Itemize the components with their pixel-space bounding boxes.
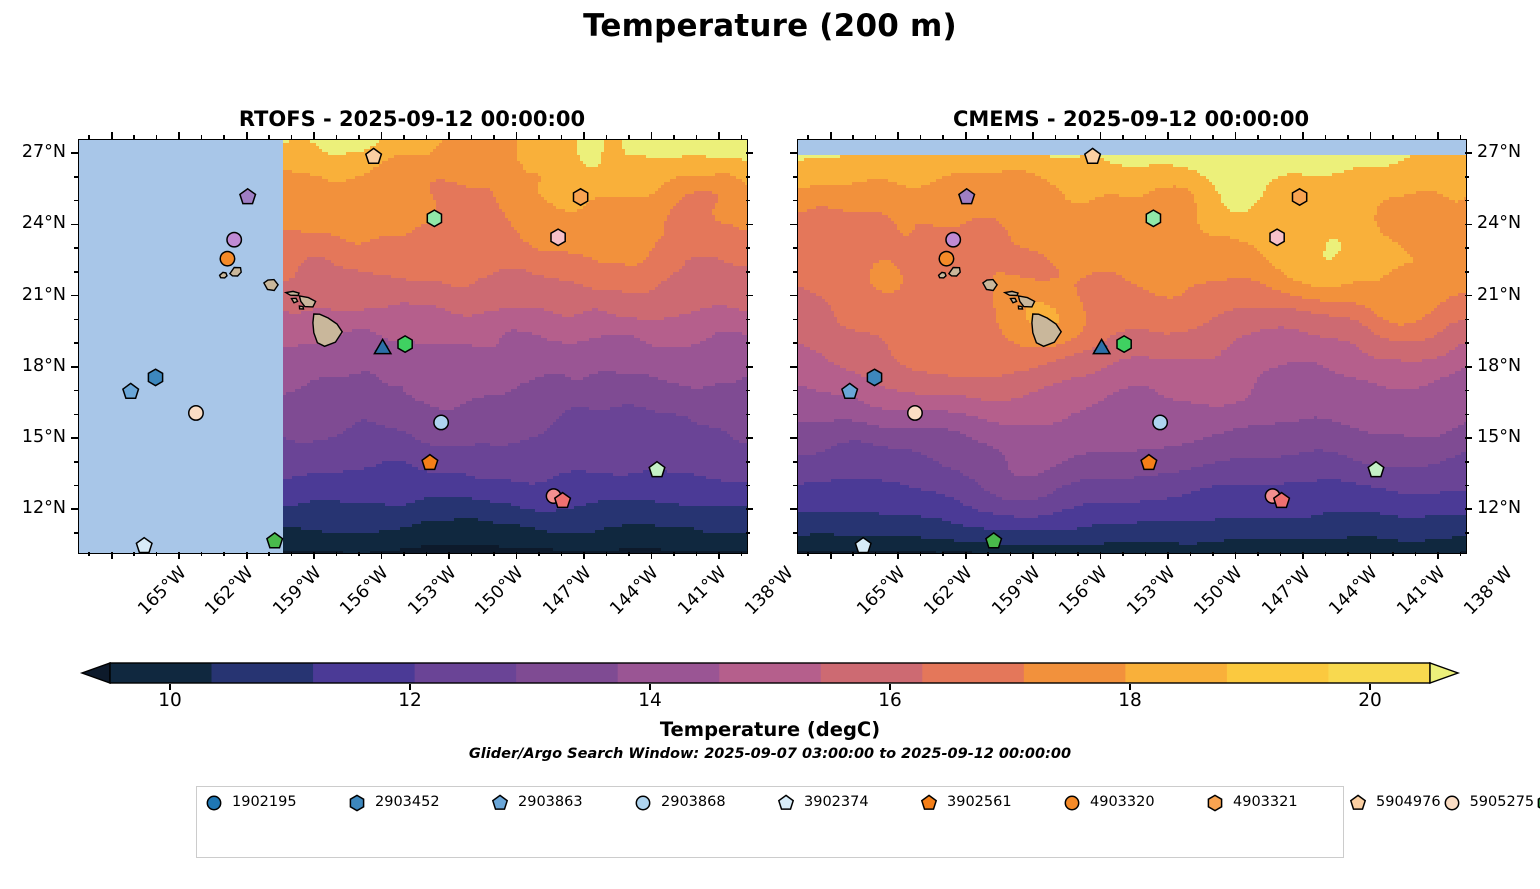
xtick-minor — [1055, 552, 1057, 556]
map-marker-2903868[interactable] — [434, 415, 448, 429]
marker-legend: 1902195290345229038632903868390237439025… — [196, 786, 1344, 858]
xtick-major — [1437, 552, 1439, 559]
ytick-minor — [74, 461, 78, 463]
xtick-minor — [223, 552, 225, 556]
ytick-major — [746, 295, 753, 297]
map-axes-rtofs[interactable] — [78, 139, 748, 554]
xtick-major — [1370, 132, 1372, 139]
xtick-minor — [426, 552, 428, 556]
ytick-minor — [746, 247, 750, 249]
ytick-minor — [793, 319, 797, 321]
xtick-major — [651, 132, 653, 139]
xtick-minor — [133, 135, 135, 139]
xtick-minor — [920, 135, 922, 139]
xtick-minor — [291, 135, 293, 139]
xtick-minor — [1460, 552, 1462, 556]
xtick-minor — [1190, 135, 1192, 139]
xtick-minor — [1010, 552, 1012, 556]
xtick-label: 165°W — [134, 563, 190, 619]
ytick-label-left: 21°N — [0, 285, 66, 305]
xtick-label: 138°W — [1460, 563, 1516, 619]
map-axes-cmems[interactable] — [797, 139, 1467, 554]
xtick-minor — [673, 552, 675, 556]
xtick-major — [111, 552, 113, 559]
legend-label: 5904976 — [1376, 794, 1441, 810]
xtick-minor — [1415, 552, 1417, 556]
xtick-minor — [291, 552, 293, 556]
xtick-major — [246, 132, 248, 139]
ytick-major — [790, 437, 797, 439]
xtick-minor — [358, 552, 360, 556]
ytick-major — [1465, 152, 1472, 154]
ytick-minor — [793, 414, 797, 416]
xtick-minor — [1325, 135, 1327, 139]
xtick-major — [111, 132, 113, 139]
ytick-minor — [793, 271, 797, 273]
colorbar-title: Temperature (degC) — [0, 718, 1540, 741]
xtick-minor — [1257, 552, 1259, 556]
xtick-label: 159°W — [988, 563, 1044, 619]
ytick-minor — [793, 247, 797, 249]
ytick-label-right: 12°N — [1477, 498, 1521, 518]
ytick-minor — [746, 532, 750, 534]
legend-grid: 1902195290345229038632903868390237439025… — [203, 791, 1540, 812]
xtick-major — [1167, 552, 1169, 559]
ytick-minor — [793, 176, 797, 178]
xtick-minor — [852, 135, 854, 139]
xtick-minor — [336, 552, 338, 556]
xtick-label: 147°W — [539, 563, 595, 619]
xtick-major — [448, 132, 450, 139]
xtick-minor — [942, 552, 944, 556]
xtick-minor — [875, 135, 877, 139]
ytick-minor — [793, 342, 797, 344]
xtick-major — [381, 552, 383, 559]
ytick-minor — [746, 461, 750, 463]
xtick-major — [897, 552, 899, 559]
ytick-label-right: 24°N — [1477, 213, 1521, 233]
ytick-major — [1465, 366, 1472, 368]
legend-label: 2903863 — [518, 794, 583, 810]
ytick-major — [71, 508, 78, 510]
ytick-major — [746, 366, 753, 368]
xtick-minor — [1145, 135, 1147, 139]
ytick-minor — [746, 176, 750, 178]
legend-item-5905853[interactable]: 5905853 — [1534, 791, 1540, 812]
xtick-major — [1032, 132, 1034, 139]
xtick-minor — [1460, 135, 1462, 139]
xtick-label: 144°W — [606, 563, 662, 619]
xtick-major — [1235, 132, 1237, 139]
legend-label: 2903868 — [661, 794, 726, 810]
xtick-label: 141°W — [1393, 563, 1449, 619]
ytick-major — [71, 295, 78, 297]
ytick-label-right: 18°N — [1477, 356, 1521, 376]
ytick-label-right: 15°N — [1477, 427, 1521, 447]
ytick-label-left: 24°N — [0, 213, 66, 233]
ytick-major — [790, 295, 797, 297]
legend-item-1902195[interactable]: 1902195 — [203, 791, 346, 812]
xtick-minor — [156, 135, 158, 139]
xtick-minor — [403, 552, 405, 556]
xtick-major — [830, 132, 832, 139]
xtick-major — [516, 552, 518, 559]
xtick-minor — [1347, 135, 1349, 139]
colorbar-tick-label: 16 — [850, 690, 930, 711]
ytick-minor — [746, 200, 750, 202]
xtick-minor — [426, 135, 428, 139]
ytick-label-right: 21°N — [1477, 285, 1521, 305]
xtick-minor — [1392, 135, 1394, 139]
ytick-minor — [793, 200, 797, 202]
colorbar-tick-label: 12 — [370, 690, 450, 711]
ytick-minor — [1465, 414, 1469, 416]
map-marker-4903321[interactable] — [1293, 189, 1307, 205]
legend-label: 3902374 — [804, 794, 869, 810]
ytick-minor — [1465, 461, 1469, 463]
ytick-major — [1465, 437, 1472, 439]
ytick-major — [1465, 295, 1472, 297]
figure-root: Temperature (200 m) RTOFS - 2025-09-12 0… — [0, 0, 1540, 889]
ytick-minor — [746, 390, 750, 392]
xtick-minor — [88, 552, 90, 556]
xtick-major — [516, 132, 518, 139]
map-marker-5906811[interactable] — [1270, 229, 1284, 245]
legend-marker-hexagon-icon — [1534, 794, 1540, 810]
xtick-minor — [336, 135, 338, 139]
map-marker-5906155[interactable] — [398, 336, 412, 352]
ytick-minor — [1465, 176, 1469, 178]
map-marker-2903452[interactable] — [867, 369, 881, 385]
xtick-minor — [852, 552, 854, 556]
xtick-minor — [987, 552, 989, 556]
xtick-minor — [1280, 552, 1282, 556]
xtick-minor — [201, 552, 203, 556]
ytick-minor — [746, 319, 750, 321]
xtick-minor — [1190, 552, 1192, 556]
legend-item-5904976[interactable]: 5904976 — [1347, 791, 1441, 812]
xtick-minor — [88, 135, 90, 139]
legend-marker-circle-icon — [1061, 794, 1083, 810]
xtick-label: 165°W — [853, 563, 909, 619]
xtick-minor — [875, 552, 877, 556]
ytick-major — [746, 508, 753, 510]
map-marker-5905275[interactable] — [189, 406, 203, 420]
xtick-minor — [268, 135, 270, 139]
xtick-minor — [538, 552, 540, 556]
xtick-major — [1437, 132, 1439, 139]
xtick-minor — [1077, 552, 1079, 556]
ytick-label-left: 18°N — [0, 356, 66, 376]
legend-item-2903452[interactable]: 2903452 — [346, 791, 489, 812]
ytick-minor — [74, 176, 78, 178]
xtick-label: 159°W — [269, 563, 325, 619]
xtick-minor — [561, 135, 563, 139]
legend-label: 3902561 — [947, 794, 1012, 810]
map-marker-5906155[interactable] — [1117, 336, 1131, 352]
xtick-major — [1032, 552, 1034, 559]
ytick-major — [1465, 224, 1472, 226]
xtick-minor — [1347, 552, 1349, 556]
xtick-minor — [807, 552, 809, 556]
map-canvas-cmems — [798, 140, 1466, 553]
map-marker-4903320[interactable] — [220, 251, 234, 265]
legend-item-3902561[interactable]: 3902561 — [918, 791, 1061, 812]
xtick-minor — [741, 135, 743, 139]
xtick-label: 162°W — [202, 563, 258, 619]
xtick-major — [718, 132, 720, 139]
xtick-label: 147°W — [1258, 563, 1314, 619]
xtick-minor — [1280, 135, 1282, 139]
xtick-minor — [493, 135, 495, 139]
ytick-minor — [793, 390, 797, 392]
xtick-minor — [133, 552, 135, 556]
ytick-minor — [793, 461, 797, 463]
ytick-minor — [74, 247, 78, 249]
xtick-minor — [471, 135, 473, 139]
colorbar-tick-label: 14 — [610, 690, 690, 711]
xtick-minor — [538, 135, 540, 139]
ytick-major — [746, 224, 753, 226]
legend-marker-circle-icon — [632, 794, 654, 810]
ytick-minor — [74, 414, 78, 416]
map-marker-2903868[interactable] — [1153, 415, 1167, 429]
legend-marker-pentagon-icon — [489, 794, 511, 810]
ytick-minor — [1465, 247, 1469, 249]
ytick-label-right: 27°N — [1477, 142, 1521, 162]
xtick-minor — [1122, 552, 1124, 556]
ytick-minor — [74, 342, 78, 344]
xtick-minor — [741, 552, 743, 556]
xtick-label: 153°W — [404, 563, 460, 619]
colorbar[interactable] — [80, 661, 1460, 685]
xtick-minor — [223, 135, 225, 139]
xtick-label: 138°W — [741, 563, 797, 619]
xtick-minor — [493, 552, 495, 556]
xtick-minor — [696, 552, 698, 556]
xtick-minor — [1392, 552, 1394, 556]
legend-label: 1902195 — [232, 794, 297, 810]
ytick-minor — [1465, 485, 1469, 487]
legend-item-4903321[interactable]: 4903321 — [1204, 791, 1347, 812]
ytick-minor — [1465, 390, 1469, 392]
ytick-major — [1465, 508, 1472, 510]
xtick-minor — [268, 552, 270, 556]
colorbar-tick-label: 18 — [1090, 690, 1170, 711]
map-marker-4903321[interactable] — [574, 189, 588, 205]
ytick-major — [790, 508, 797, 510]
ytick-major — [71, 437, 78, 439]
ytick-minor — [74, 200, 78, 202]
legend-marker-pentagon-icon — [918, 794, 940, 810]
xtick-minor — [403, 135, 405, 139]
ytick-minor — [1465, 200, 1469, 202]
xtick-minor — [1212, 135, 1214, 139]
xtick-major — [897, 132, 899, 139]
xtick-minor — [1212, 552, 1214, 556]
map-marker-4903320[interactable] — [939, 251, 953, 265]
legend-marker-circle-icon — [203, 794, 225, 810]
legend-item-5905275[interactable]: 5905275 — [1441, 791, 1535, 812]
panel-title-rtofs: RTOFS - 2025-09-12 00:00:00 — [78, 107, 746, 131]
xtick-label: 156°W — [1056, 563, 1112, 619]
map-marker-5906156[interactable] — [427, 210, 441, 226]
ytick-minor — [74, 485, 78, 487]
xtick-major — [246, 552, 248, 559]
legend-label: 4903321 — [1233, 794, 1298, 810]
ytick-major — [746, 152, 753, 154]
xtick-minor — [201, 135, 203, 139]
xtick-label: 162°W — [921, 563, 977, 619]
ytick-label-left: 27°N — [0, 142, 66, 162]
legend-marker-pentagon-icon — [1347, 794, 1369, 810]
xtick-minor — [606, 552, 608, 556]
xtick-minor — [1257, 135, 1259, 139]
xtick-minor — [1122, 135, 1124, 139]
xtick-major — [1167, 132, 1169, 139]
xtick-major — [830, 552, 832, 559]
xtick-minor — [628, 552, 630, 556]
colorbar-tick-label: 10 — [130, 690, 210, 711]
ytick-minor — [1465, 342, 1469, 344]
ytick-minor — [74, 390, 78, 392]
xtick-major — [965, 132, 967, 139]
ytick-minor — [746, 485, 750, 487]
legend-item-4903320[interactable]: 4903320 — [1061, 791, 1204, 812]
xtick-label: 156°W — [337, 563, 393, 619]
xtick-minor — [628, 135, 630, 139]
ytick-major — [746, 437, 753, 439]
xtick-minor — [673, 135, 675, 139]
ytick-minor — [74, 271, 78, 273]
xtick-label: 150°W — [472, 563, 528, 619]
xtick-minor — [561, 552, 563, 556]
map-marker-2903452[interactable] — [148, 369, 162, 385]
xtick-major — [1302, 132, 1304, 139]
xtick-minor — [606, 135, 608, 139]
xtick-major — [1100, 132, 1102, 139]
xtick-major — [178, 552, 180, 559]
xtick-minor — [1325, 552, 1327, 556]
xtick-minor — [987, 135, 989, 139]
legend-item-2903863[interactable]: 2903863 — [489, 791, 632, 812]
xtick-minor — [920, 552, 922, 556]
xtick-major — [651, 552, 653, 559]
panel-title-cmems: CMEMS - 2025-09-12 00:00:00 — [797, 107, 1465, 131]
xtick-major — [1370, 552, 1372, 559]
ytick-minor — [746, 414, 750, 416]
xtick-label: 141°W — [674, 563, 730, 619]
map-canvas-rtofs — [79, 140, 747, 553]
xtick-major — [313, 552, 315, 559]
ytick-minor — [74, 532, 78, 534]
ytick-major — [71, 224, 78, 226]
ytick-minor — [793, 485, 797, 487]
legend-marker-circle-icon — [1441, 794, 1463, 810]
xtick-major — [1235, 552, 1237, 559]
legend-item-2903868[interactable]: 2903868 — [632, 791, 775, 812]
ytick-minor — [746, 271, 750, 273]
ytick-minor — [1465, 319, 1469, 321]
colorbar-tick-label: 20 — [1330, 690, 1410, 711]
xtick-major — [583, 552, 585, 559]
xtick-major — [178, 132, 180, 139]
map-marker-5906156[interactable] — [1146, 210, 1160, 226]
legend-item-3902374[interactable]: 3902374 — [775, 791, 918, 812]
xtick-label: 150°W — [1191, 563, 1247, 619]
ytick-major — [790, 152, 797, 154]
xtick-major — [965, 552, 967, 559]
xtick-minor — [1145, 552, 1147, 556]
colorbar-gradient — [80, 661, 1460, 685]
ytick-major — [71, 366, 78, 368]
xtick-minor — [1010, 135, 1012, 139]
xtick-major — [313, 132, 315, 139]
xtick-major — [583, 132, 585, 139]
map-marker-5906811[interactable] — [551, 229, 565, 245]
ytick-label-left: 15°N — [0, 427, 66, 447]
xtick-minor — [156, 552, 158, 556]
xtick-label: 153°W — [1123, 563, 1179, 619]
search-window-label: Glider/Argo Search Window: 2025-09-07 03… — [0, 746, 1540, 762]
xtick-major — [718, 552, 720, 559]
legend-label: 2903452 — [375, 794, 440, 810]
xtick-major — [381, 132, 383, 139]
xtick-major — [448, 552, 450, 559]
ytick-minor — [746, 342, 750, 344]
map-marker-7901106[interactable] — [946, 232, 960, 246]
legend-marker-hexagon-icon — [1204, 794, 1226, 810]
xtick-minor — [807, 135, 809, 139]
ytick-minor — [74, 319, 78, 321]
xtick-minor — [1077, 135, 1079, 139]
ytick-major — [790, 366, 797, 368]
xtick-minor — [358, 135, 360, 139]
map-marker-7901106[interactable] — [227, 232, 241, 246]
xtick-major — [1100, 552, 1102, 559]
xtick-minor — [942, 135, 944, 139]
xtick-minor — [1055, 135, 1057, 139]
legend-marker-pentagon-icon — [775, 794, 797, 810]
ytick-minor — [1465, 271, 1469, 273]
ytick-minor — [793, 532, 797, 534]
xtick-minor — [1415, 135, 1417, 139]
figure-title: Temperature (200 m) — [0, 8, 1540, 44]
map-marker-5905275[interactable] — [908, 406, 922, 420]
xtick-label: 144°W — [1325, 563, 1381, 619]
ytick-label-left: 12°N — [0, 498, 66, 518]
ytick-major — [790, 224, 797, 226]
ytick-major — [71, 152, 78, 154]
legend-marker-hexagon-icon — [346, 794, 368, 810]
legend-label: 4903320 — [1090, 794, 1155, 810]
legend-label: 5905275 — [1470, 794, 1535, 810]
xtick-minor — [696, 135, 698, 139]
xtick-major — [1302, 552, 1304, 559]
xtick-minor — [471, 552, 473, 556]
ytick-minor — [1465, 532, 1469, 534]
